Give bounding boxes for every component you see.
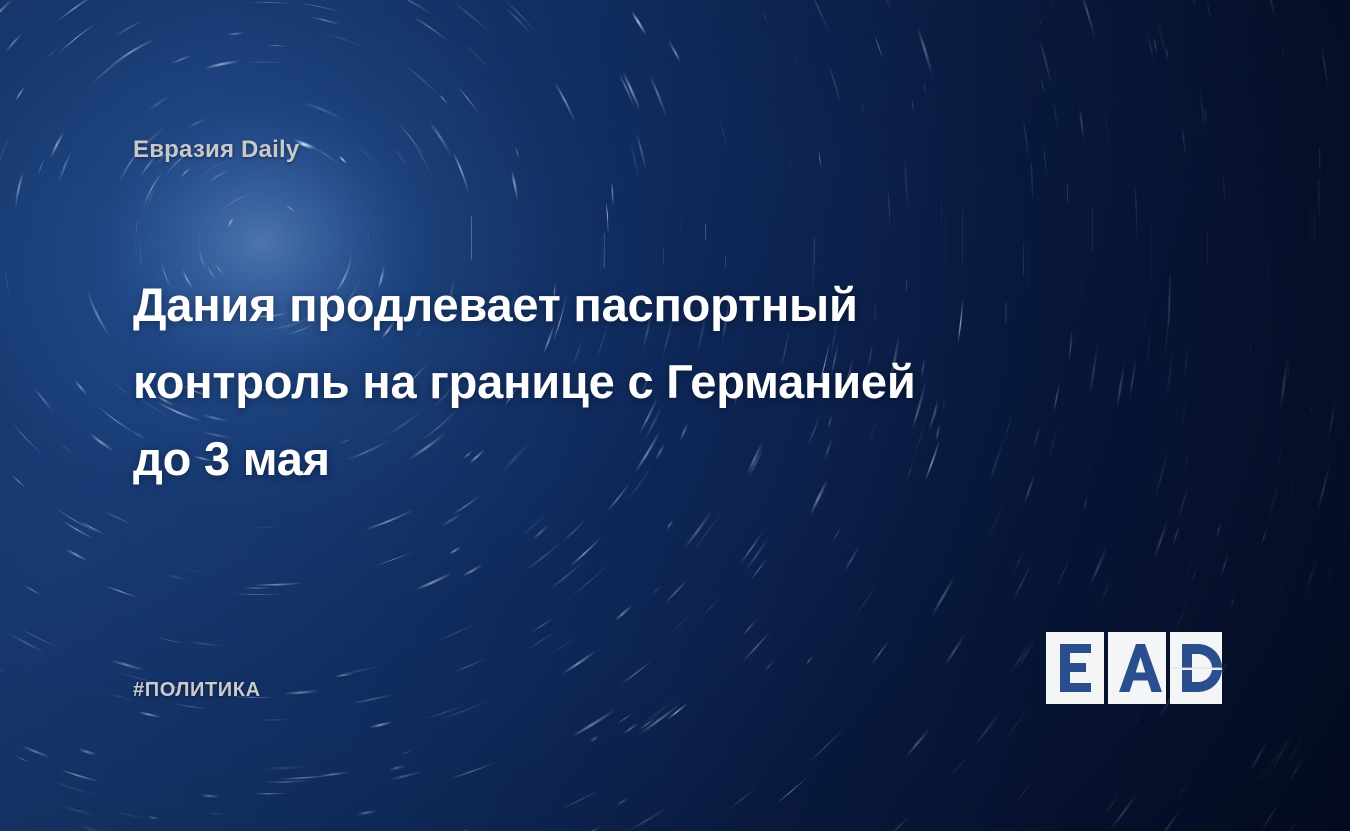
logo-d-seam: [1170, 668, 1222, 669]
headline-line-3: до 3 мая: [133, 420, 1063, 497]
headline-line-1: Дания продлевает паспортный: [133, 266, 1063, 343]
social-share-card: Евразия Daily Дания продлевает паспортны…: [0, 0, 1350, 831]
headline-line-2: контроль на границе с Германией: [133, 343, 1063, 420]
category-hashtag: #ПОЛИТИКА: [133, 679, 261, 702]
publisher-brand-name: Евразия Daily: [133, 136, 299, 164]
headline: Дания продлевает паспортный контроль на …: [133, 266, 1063, 497]
eadaily-logo: [1046, 632, 1222, 704]
